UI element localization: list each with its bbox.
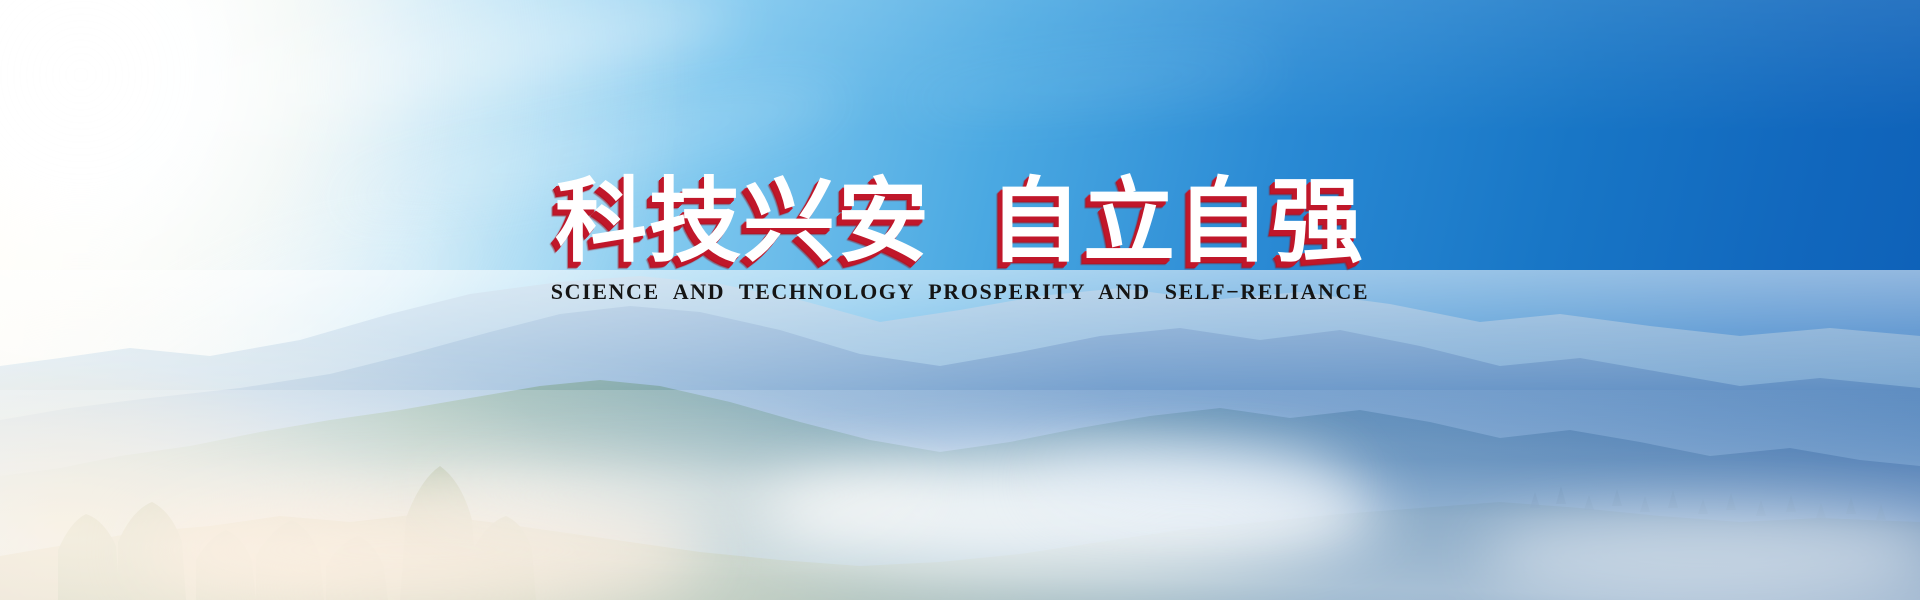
- mountain-landscape: [0, 270, 1920, 600]
- banner-hero: 科技兴安自立自强 SCIENCE AND TECHNOLOGY PROSPERI…: [0, 0, 1920, 600]
- ridge-haze-fade: [0, 270, 1920, 460]
